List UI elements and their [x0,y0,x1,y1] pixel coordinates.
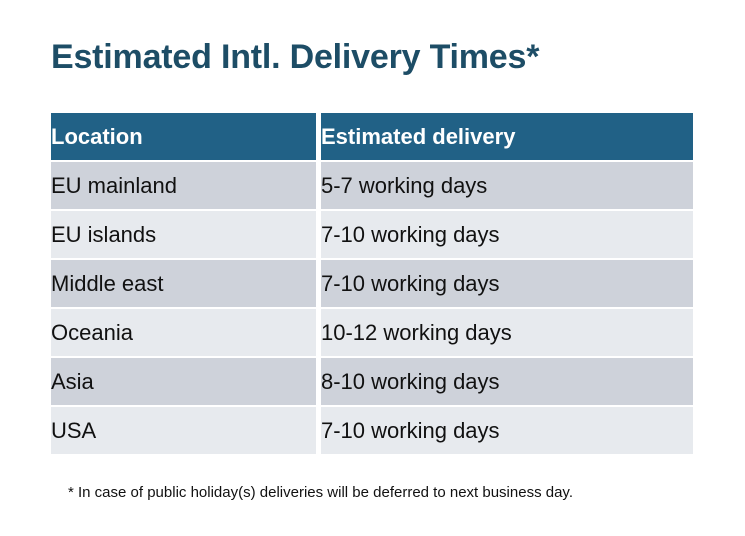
table-row: Asia 8-10 working days [51,356,693,405]
cell-location: EU islands [51,209,316,258]
cell-location: USA [51,405,316,454]
table-body: EU mainland 5-7 working days EU islands … [51,160,693,454]
cell-location: EU mainland [51,160,316,209]
table-row: Middle east 7-10 working days [51,258,693,307]
column-header-delivery[interactable]: Estimated delivery [321,113,693,160]
cell-delivery: 5-7 working days [321,160,693,209]
column-header-location[interactable]: Location [51,113,316,160]
table-row: EU islands 7-10 working days [51,209,693,258]
cell-delivery: 7-10 working days [321,258,693,307]
cell-delivery: 7-10 working days [321,209,693,258]
page-title: Estimated Intl. Delivery Times* [51,37,539,77]
table-header: Location Estimated delivery [51,113,693,160]
table-row: USA 7-10 working days [51,405,693,454]
delivery-times-page: Estimated Intl. Delivery Times* Location… [0,0,745,536]
table-row: Oceania 10-12 working days [51,307,693,356]
cell-location: Asia [51,356,316,405]
table-row: EU mainland 5-7 working days [51,160,693,209]
cell-delivery: 8-10 working days [321,356,693,405]
delivery-times-table: Location Estimated delivery EU mainland … [51,113,693,454]
cell-delivery: 7-10 working days [321,405,693,454]
cell-location: Middle east [51,258,316,307]
table-footnote: * In case of public holiday(s) deliverie… [68,483,573,503]
cell-location: Oceania [51,307,316,356]
table-header-row: Location Estimated delivery [51,113,693,160]
cell-delivery: 10-12 working days [321,307,693,356]
